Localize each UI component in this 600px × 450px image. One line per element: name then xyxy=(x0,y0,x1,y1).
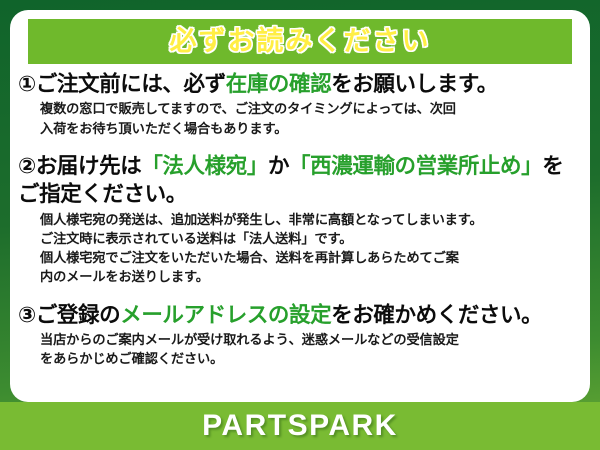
section-1-marker: ① xyxy=(18,72,36,96)
section-2-subtext-line-1: 個人様宅宛の発送は、追加送料が発生し、非常に高額となってしまいます。 xyxy=(40,210,582,229)
section-1-part-1-highlight: 在庫の確認 xyxy=(226,72,332,96)
notice-section-1: ①ご注文前には、必ず在庫の確認をお願いします。 複数の窓口で販売してますので、ご… xyxy=(18,70,582,138)
section-2-part-1-highlight: 「法人様宛」 xyxy=(141,154,268,178)
section-2-part-2: か xyxy=(268,154,289,178)
section-2-subtext-line-2: ご注文時に表示されている送料は「法人送料」です。 xyxy=(40,229,582,248)
banner-title: 必ずお読みください xyxy=(170,28,431,55)
section-2-headline: ②お届け先は「法人様宛」か「西濃運輸の営業所止め」をご指定ください。 xyxy=(18,152,582,209)
section-2-subtext-line-4: 内のメールをお送りします。 xyxy=(40,267,582,286)
notice-card: 必ずお読みください ①ご注文前には、必ず在庫の確認をお願いします。 複数の窓口で… xyxy=(10,10,590,402)
section-2-marker: ② xyxy=(18,154,36,178)
section-2-subtext: 個人様宅宛の発送は、追加送料が発生し、非常に高額となってしまいます。 ご注文時に… xyxy=(18,210,582,287)
brand-logo: PARTSPARK xyxy=(202,409,398,443)
section-3-headline: ③ご登録のメールアドレスの設定をお確かめください。 xyxy=(18,301,582,329)
notice-content: ①ご注文前には、必ず在庫の確認をお願いします。 複数の窓口で販売してますので、ご… xyxy=(10,70,590,371)
section-3-part-2: をお確かめください。 xyxy=(331,303,542,327)
section-1-headline: ①ご注文前には、必ず在庫の確認をお願いします。 xyxy=(18,70,582,98)
section-3-subtext-line-2: をあらかじめご確認ください。 xyxy=(40,349,582,368)
notice-section-3: ③ご登録のメールアドレスの設定をお確かめください。 当店からのご案内メールが受け… xyxy=(18,301,582,369)
section-3-subtext-line-1: 当店からのご案内メールが受け取れるよう、迷惑メールなどの受信設定 xyxy=(40,330,582,349)
section-2-subtext-line-3: 個人様宅宛でご注文をいただいた場合、送料を再計算しあらためてご案 xyxy=(40,248,582,267)
section-1-subtext: 複数の窓口で販売してますので、ご注文のタイミングによっては、次回 入荷をお待ち頂… xyxy=(18,99,582,138)
section-1-part-0: ご注文前には、必ず xyxy=(36,72,226,96)
notice-banner: 必ずお読みください xyxy=(28,19,572,64)
section-2-part-3-highlight: 「西濃運輸の営業所止め」 xyxy=(289,154,542,178)
notice-section-2: ②お届け先は「法人様宛」か「西濃運輸の営業所止め」をご指定ください。 個人様宅宛… xyxy=(18,152,582,287)
section-3-subtext: 当店からのご案内メールが受け取れるよう、迷惑メールなどの受信設定 をあらかじめご… xyxy=(18,330,582,369)
section-1-subtext-line-1: 複数の窓口で販売してますので、ご注文のタイミングによっては、次回 xyxy=(40,99,582,118)
section-3-part-1-highlight: メールアドレスの設定 xyxy=(120,303,331,327)
notice-footer: PARTSPARK xyxy=(0,402,600,450)
section-2-part-0: お届け先は xyxy=(36,154,142,178)
section-1-subtext-line-2: 入荷をお待ち頂いただく場合もあります。 xyxy=(40,119,582,138)
section-3-part-0: ご登録の xyxy=(36,303,120,327)
notice-frame: 必ずお読みください ①ご注文前には、必ず在庫の確認をお願いします。 複数の窓口で… xyxy=(0,0,600,450)
section-3-marker: ③ xyxy=(18,303,36,327)
section-1-part-2: をお願いします。 xyxy=(331,72,498,96)
